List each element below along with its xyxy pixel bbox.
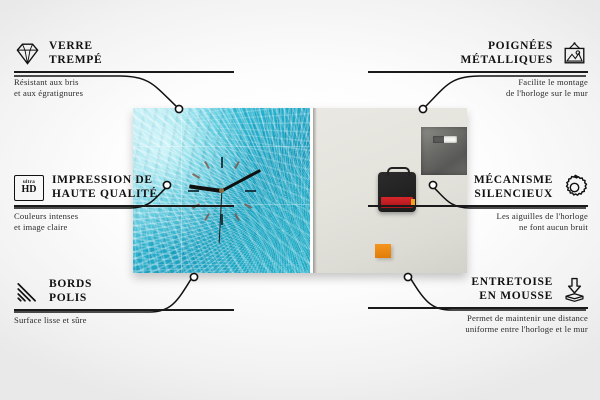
feature-divider — [368, 205, 588, 207]
feature-title-line1: ENTRETOISE — [471, 276, 553, 290]
feature-subtitle: Surface lisse et sûre — [14, 315, 234, 327]
ultra-hd-icon-main-text: HD — [22, 185, 37, 195]
feature-subtitle: Facilite le montage de l'horloge sur le … — [368, 77, 588, 100]
feature-divider — [368, 307, 588, 309]
feature-header: BORDS POLIS — [14, 278, 234, 305]
feature-title: MÉCANISME SILENCIEUX — [474, 174, 553, 201]
feature-header: ultra HD IMPRESSION DE HAUTE QUALITÉ — [14, 174, 234, 201]
feature-title: POIGNÉES MÉTALLIQUES — [461, 40, 553, 67]
feature-subtitle-line2: et aux égratignures — [14, 88, 234, 100]
feature-title-line2: POLIS — [49, 292, 92, 306]
feature-subtitle-line1: Surface lisse et sûre — [14, 315, 234, 327]
gear-icon — [561, 174, 588, 201]
hanger-slot — [433, 136, 457, 143]
feature-subtitle: Résistant aux bris et aux égratignures — [14, 77, 234, 100]
feature-subtitle-line2: de l'horloge sur le mur — [368, 88, 588, 100]
feature-impression-haute-qualite: ultra HD IMPRESSION DE HAUTE QUALITÉ Cou… — [14, 174, 234, 234]
infographic-stage: VERRE TREMPÉ Résistant aux bris et aux é… — [0, 0, 600, 400]
ultra-hd-icon: ultra HD — [14, 175, 44, 201]
feature-title-line2: SILENCIEUX — [474, 188, 553, 202]
feature-title: IMPRESSION DE HAUTE QUALITÉ — [52, 174, 158, 201]
feature-subtitle-line1: Couleurs intenses — [14, 211, 234, 223]
feature-title-line1: VERRE — [49, 40, 102, 54]
feature-title: BORDS POLIS — [49, 278, 92, 305]
feature-divider — [14, 309, 234, 311]
feature-title-line2: EN MOUSSE — [471, 290, 553, 304]
feature-header: ENTRETOISE EN MOUSSE — [368, 276, 588, 303]
feature-title-line2: TREMPÉ — [49, 54, 102, 68]
feature-divider — [368, 71, 588, 73]
feature-verre-trempe: VERRE TREMPÉ Résistant aux bris et aux é… — [14, 40, 234, 100]
metal-hanger-plate — [421, 127, 467, 175]
feature-subtitle-line1: Résistant aux bris — [14, 77, 234, 89]
feature-subtitle: Les aiguilles de l'horloge ne font aucun… — [368, 211, 588, 234]
feature-subtitle: Permet de maintenir une distance uniform… — [368, 313, 588, 336]
feature-subtitle: Couleurs intenses et image claire — [14, 211, 234, 234]
feature-subtitle-line1: Facilite le montage — [368, 77, 588, 89]
feature-title-line2: HAUTE QUALITÉ — [52, 188, 158, 202]
feature-subtitle-line2: ne font aucun bruit — [368, 222, 588, 234]
feature-poignees-metalliques: POIGNÉES MÉTALLIQUES Facilite le montage… — [368, 40, 588, 100]
feature-title-line1: IMPRESSION DE — [52, 174, 158, 188]
feature-subtitle-line1: Les aiguilles de l'horloge — [368, 211, 588, 223]
framed-picture-icon — [561, 40, 588, 67]
feature-title-line1: MÉCANISME — [474, 174, 553, 188]
feature-title-line1: BORDS — [49, 278, 92, 292]
feature-divider — [14, 205, 234, 207]
feature-header: VERRE TREMPÉ — [14, 40, 234, 67]
feature-entretoise-en-mousse: ENTRETOISE EN MOUSSE Permet de maintenir… — [368, 276, 588, 336]
feature-title-line2: MÉTALLIQUES — [461, 54, 553, 68]
feature-header: MÉCANISME SILENCIEUX — [368, 174, 588, 201]
foam-spacer — [375, 244, 391, 258]
feature-title: ENTRETOISE EN MOUSSE — [471, 276, 553, 303]
feature-subtitle-line1: Permet de maintenir une distance — [368, 313, 588, 325]
foam-spacer-icon — [561, 276, 588, 303]
feature-divider — [14, 71, 234, 73]
feature-bords-polis: BORDS POLIS Surface lisse et sûre — [14, 278, 234, 326]
feature-subtitle-line2: et image claire — [14, 222, 234, 234]
feature-title-line1: POIGNÉES — [461, 40, 553, 54]
feature-mecanisme-silencieux: MÉCANISME SILENCIEUX Les aiguilles de l'… — [368, 174, 588, 234]
feature-header: POIGNÉES MÉTALLIQUES — [368, 40, 588, 67]
feature-title: VERRE TREMPÉ — [49, 40, 102, 67]
feature-subtitle-line2: uniforme entre l'horloge et le mur — [368, 324, 588, 336]
diamond-icon — [14, 40, 41, 67]
polished-edges-icon — [14, 278, 41, 305]
